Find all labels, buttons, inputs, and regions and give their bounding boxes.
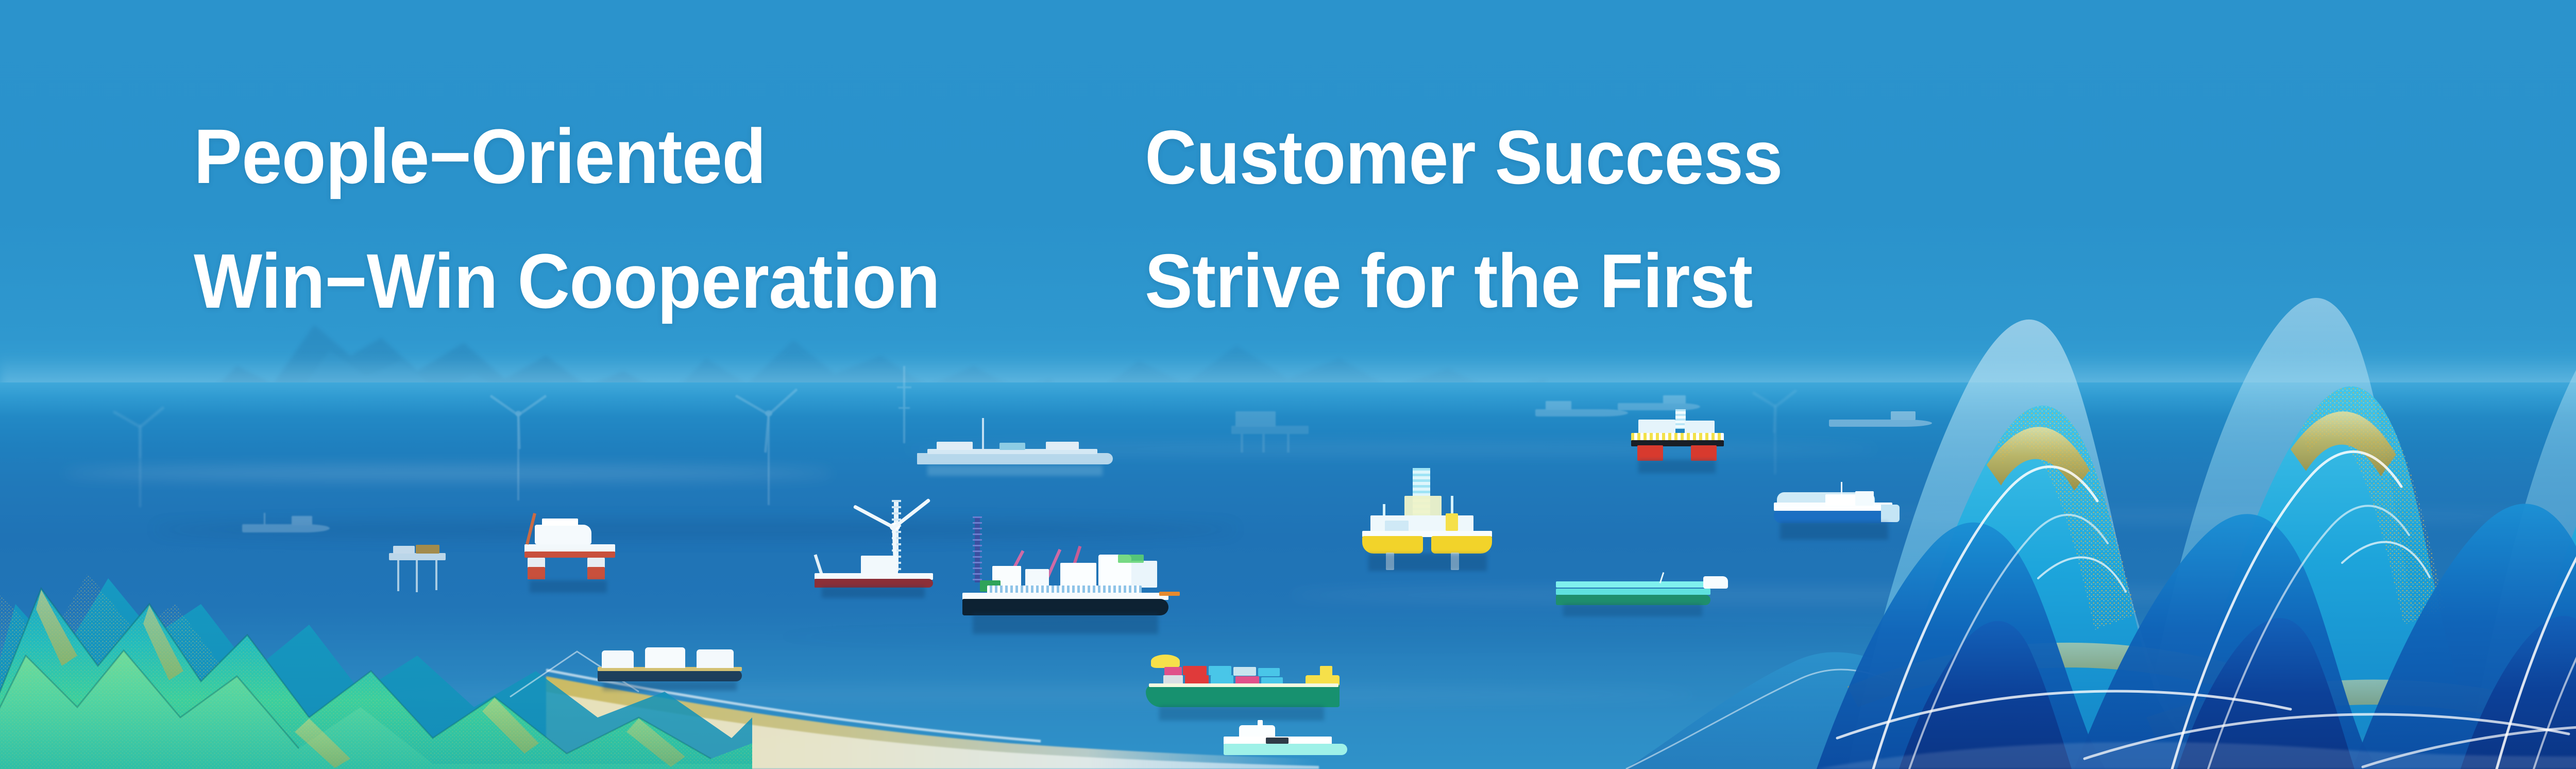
offshore-construction-vessel: [948, 531, 1180, 634]
semi-submersible-rig-red: [1628, 412, 1731, 474]
slogan-line-2: Customer Success: [1145, 120, 1783, 196]
distant-jackup: [389, 544, 446, 600]
slogan-line-4: Strive for the First: [1145, 243, 1752, 320]
container-ship: [1139, 655, 1355, 722]
slogan-block: People−Oriented Customer Success Win−Win…: [0, 0, 2576, 382]
turbine-4: [1752, 389, 1801, 477]
wind-turbine-install-vessel: [811, 500, 940, 598]
cargo-barge-teal: [1556, 572, 1731, 618]
ink-mountain-left: [0, 449, 752, 769]
survey-vessel-small: [1208, 724, 1358, 769]
distant-vessel-right: [1535, 397, 1628, 422]
sailing-vessel-mid: [917, 436, 1113, 472]
slogan-line-1: People−Oriented: [194, 118, 766, 195]
semi-submersible-rig-left: [520, 515, 623, 593]
module-transport-barge: [598, 644, 742, 691]
slogan-line-3: Win−Win Cooperation: [194, 242, 940, 320]
corporate-ocean-banner: People−Oriented Customer Success Win−Win…: [0, 0, 2576, 769]
ro-ro-ferry: [1765, 487, 1914, 549]
distant-platform: [1231, 407, 1309, 454]
semi-submersible-rig-yellow: [1355, 464, 1510, 572]
